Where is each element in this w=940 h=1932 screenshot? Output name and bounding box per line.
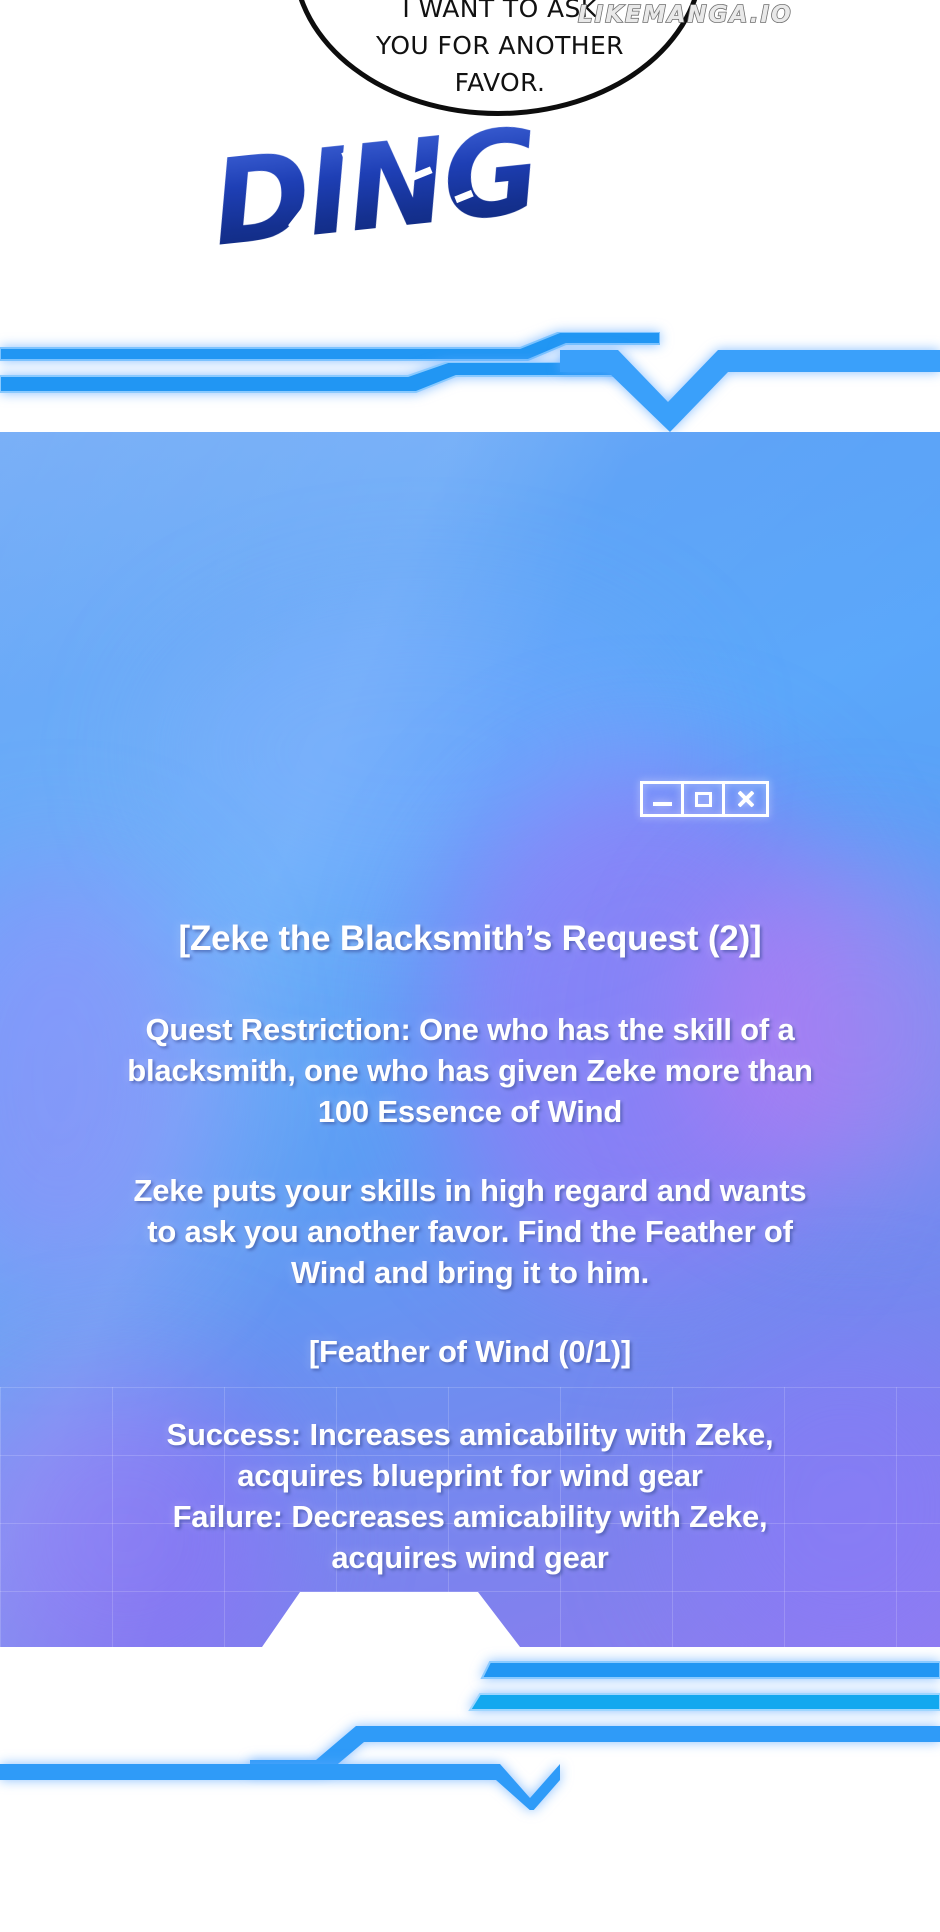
quest-outcome-line: Failure: Decreases amicability with Zeke…	[22, 1496, 918, 1537]
sound-effect-ding: DING	[207, 111, 543, 262]
quest-description-line: Wind and bring it to him.	[22, 1252, 918, 1293]
maximize-button[interactable]	[684, 784, 725, 814]
frame-bottom-bar-middle	[468, 1684, 940, 1724]
quest-description: Zeke puts your skills in high regard and…	[22, 1170, 918, 1293]
quest-objective-line: [Feather of Wind (0/1)]	[22, 1331, 918, 1372]
quest-restriction: Quest Restriction: One who has the skill…	[22, 1009, 918, 1132]
site-watermark: LIKEMANGA.IO	[578, 2, 793, 28]
comic-panel: I WANT TO ASK YOU FOR ANOTHER FAVOR. LIK…	[0, 0, 940, 330]
panel-glow	[160, 602, 680, 902]
quest-title: [Zeke the Blacksmith’s Request (2)]	[22, 917, 918, 961]
window-controls[interactable]	[640, 781, 769, 817]
quest-restriction-line: 100 Essence of Wind	[22, 1091, 918, 1132]
quest-objective: [Feather of Wind (0/1)]	[22, 1331, 918, 1372]
maximize-icon	[695, 792, 712, 807]
frame-bottom-bar-left	[0, 1754, 560, 1810]
frame-bottom-decor	[0, 1612, 940, 1932]
close-button[interactable]	[725, 784, 766, 814]
frame-top-bar-lower	[0, 362, 620, 408]
quest-description-line: to ask you another favor. Find the Feath…	[22, 1211, 918, 1252]
quest-outcome-line: acquires blueprint for wind gear	[22, 1455, 918, 1496]
frame-top-right-chevron	[560, 328, 940, 448]
quest-description-line: Zeke puts your skills in high regard and…	[22, 1170, 918, 1211]
quest-text-container: [Zeke the Blacksmith’s Request (2)] Ques…	[0, 917, 940, 1578]
minimize-icon	[653, 802, 672, 806]
quest-window: [Zeke the Blacksmith’s Request (2)] Ques…	[0, 332, 940, 1732]
quest-outcome-line: acquires wind gear	[22, 1537, 918, 1578]
quest-restriction-line: blacksmith, one who has given Zeke more …	[22, 1050, 918, 1091]
minimize-button[interactable]	[643, 784, 684, 814]
speech-bubble-line: YOU FOR ANOTHER	[300, 27, 700, 64]
quest-outcomes: Success: Increases amicability with Zeke…	[22, 1414, 918, 1578]
quest-restriction-line: Quest Restriction: One who has the skill…	[22, 1009, 918, 1050]
close-icon	[736, 790, 755, 809]
speech-bubble-line: FAVOR.	[300, 64, 700, 101]
quest-outcome-line: Success: Increases amicability with Zeke…	[22, 1414, 918, 1455]
